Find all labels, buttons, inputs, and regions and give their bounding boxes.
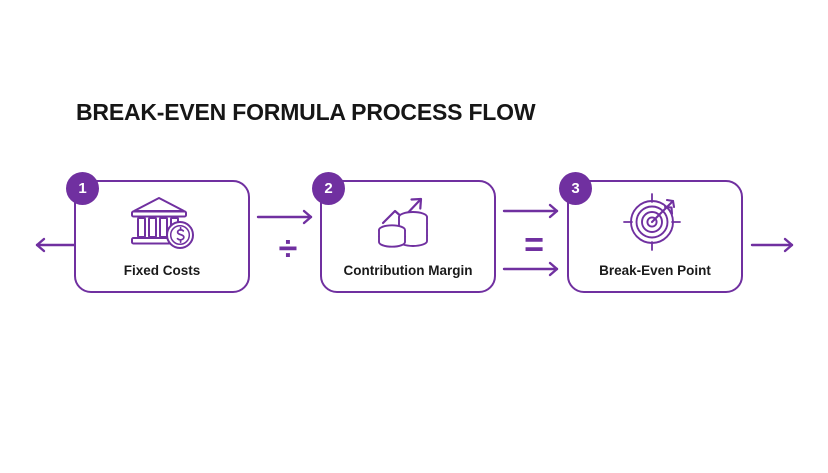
flow-out-arrow-right-icon: [752, 237, 798, 253]
flow-in-arrow-left-icon: [32, 237, 78, 253]
step-box-fixed-costs[interactable]: 1: [74, 180, 250, 293]
connector-arrow-right-bottom-icon: [504, 262, 564, 276]
step-box-break-even-point[interactable]: 3: [567, 180, 743, 293]
coins-growth-arrow-icon: [322, 194, 494, 250]
infographic-canvas: BREAK-EVEN FORMULA PROCESS FLOW 1: [0, 0, 828, 473]
bank-dollar-icon: [76, 194, 248, 250]
equals-operator: =: [498, 228, 570, 262]
process-flow-row: 1: [0, 180, 828, 300]
division-operator: ÷: [252, 232, 324, 266]
step-label-1: Fixed Costs: [76, 263, 248, 278]
step-box-contribution-margin[interactable]: 2 Contribution Marg: [320, 180, 496, 293]
connector-equals: =: [498, 180, 570, 293]
step-label-2: Contribution Margin: [322, 263, 494, 278]
target-dart-icon: [569, 194, 741, 250]
step-label-3: Break-Even Point: [569, 263, 741, 278]
connector-divide: ÷: [252, 180, 324, 293]
connector-arrow-right-top-icon: [504, 204, 564, 218]
page-title: BREAK-EVEN FORMULA PROCESS FLOW: [76, 99, 535, 125]
connector-arrow-right-icon: [258, 210, 318, 224]
